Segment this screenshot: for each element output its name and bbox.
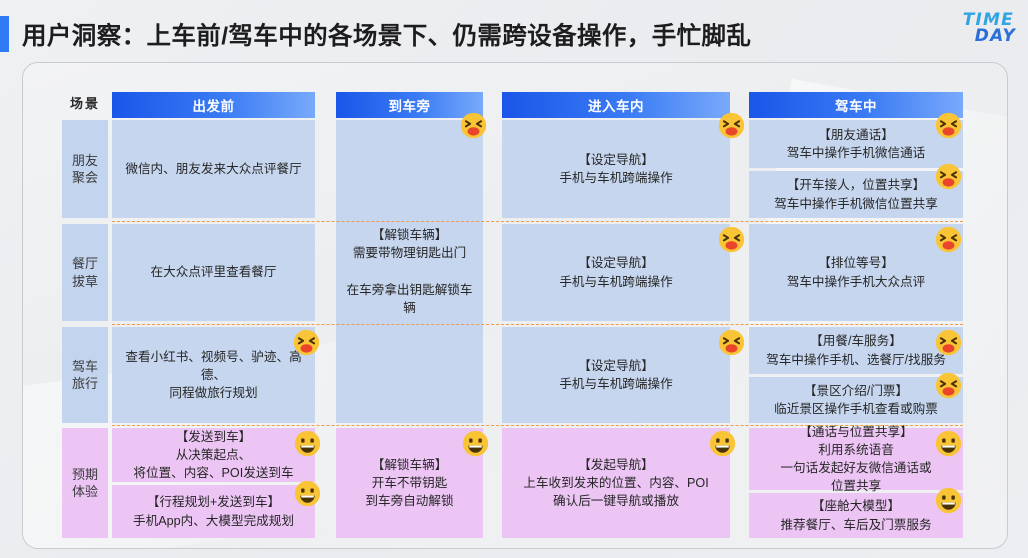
cell-r0-c2-text: 【设定导航】 手机与车机跨端操作	[559, 151, 672, 188]
cell-r0-c3-b-text: 【开车接人，位置共享】 驾车中操作手机微信位置共享	[774, 176, 938, 213]
cell-r3-c1-text: 【解锁车辆】 开车不带钥匙 到车旁自动解锁	[365, 456, 453, 511]
cell-r0-c3-a[interactable]: 【朋友通话】 驾车中操作手机微信通话	[749, 120, 963, 168]
grinning-face-icon	[709, 430, 736, 457]
confounded-face-icon	[718, 329, 745, 356]
row-label-2: 驾车 旅行	[62, 327, 108, 423]
grinning-face-icon	[294, 480, 321, 507]
insight-matrix: 场景 出发前 到车旁 进入车内 驾车中 朋友 聚会 餐厅 拔草 驾车 旅行 预期…	[0, 0, 1028, 558]
cell-r1-c3-text: 【排位等号】 驾车中操作手机大众点评	[787, 254, 926, 291]
column-header-3[interactable]: 驾车中	[749, 92, 963, 118]
cell-r3-c0-a[interactable]: 【发送到车】 从决策起点、 将位置、内容、POI发送到车	[112, 428, 315, 482]
cell-r2-c3-b[interactable]: 【景区介绍/门票】 临近景区操作手机查看或购票	[749, 377, 963, 423]
confounded-face-icon	[935, 372, 962, 399]
cell-r0-c2[interactable]: 【设定导航】 手机与车机跨端操作	[502, 120, 730, 218]
column-header-0[interactable]: 出发前	[112, 92, 315, 118]
row-divider-1	[112, 324, 963, 325]
confounded-face-icon	[460, 112, 487, 139]
confounded-face-icon	[935, 112, 962, 139]
cell-r2-c0[interactable]: 查看小红书、视频号、驴迹、高德、 同程做旅行规划	[112, 327, 315, 423]
column-header-2[interactable]: 进入车内	[502, 92, 730, 118]
cell-r1-c3[interactable]: 【排位等号】 驾车中操作手机大众点评	[749, 224, 963, 321]
cell-r1-c2-text: 【设定导航】 手机与车机跨端操作	[559, 254, 672, 291]
slide-root: 用户洞察：上车前/驾车中的各场景下、仍需跨设备操作，手忙脚乱 TIME DAY …	[0, 0, 1028, 558]
cell-r2-c0-text: 查看小红书、视频号、驴迹、高德、 同程做旅行规划	[121, 348, 306, 403]
cell-unlock-vehicle-merged[interactable]: 【解锁车辆】 需要带物理钥匙出门 在车旁拿出钥匙解锁车辆	[336, 120, 483, 423]
row-label-3-text: 预期 体验	[72, 466, 98, 500]
confounded-face-icon	[718, 112, 745, 139]
cell-r1-c0-text: 在大众点评里查看餐厅	[151, 263, 277, 281]
cell-r1-c2[interactable]: 【设定导航】 手机与车机跨端操作	[502, 224, 730, 321]
cell-r3-c3-a-text: 【通话与位置共享】 利用系统语音 一句话发起好友微信通话或 位置共享	[780, 423, 931, 496]
grinning-face-icon	[294, 430, 321, 457]
confounded-face-icon	[718, 226, 745, 253]
cell-r0-c3-b[interactable]: 【开车接人，位置共享】 驾车中操作手机微信位置共享	[749, 171, 963, 218]
row-label-1: 餐厅 拔草	[62, 224, 108, 321]
grinning-face-icon	[935, 487, 962, 514]
grinning-face-icon	[462, 430, 489, 457]
cell-unlock-vehicle-merged-text: 【解锁车辆】 需要带物理钥匙出门 在车旁拿出钥匙解锁车辆	[345, 226, 474, 317]
confounded-face-icon	[293, 329, 320, 356]
cell-r3-c2[interactable]: 【发起导航】 上车收到发来的位置、内容、POI 确认后一键导航或播放	[502, 428, 730, 538]
cell-r3-c3-b-text: 【座舱大模型】 推荐餐厅、车后及门票服务	[780, 497, 931, 534]
confounded-face-icon	[935, 329, 962, 356]
row-label-0-text: 朋友 聚会	[72, 152, 98, 186]
row-label-0: 朋友 聚会	[62, 120, 108, 218]
row-label-2-text: 驾车 旅行	[72, 358, 98, 392]
row-label-3: 预期 体验	[62, 428, 108, 538]
cell-r3-c0-b-text: 【行程规划+发送到车】 手机App内、大模型完成规划	[133, 493, 294, 530]
grinning-face-icon	[935, 430, 962, 457]
cell-r1-c0[interactable]: 在大众点评里查看餐厅	[112, 224, 315, 321]
cell-r2-c3-a-text: 【用餐/车服务】 驾车中操作手机、选餐厅/找服务	[766, 332, 946, 369]
cell-r2-c2-text: 【设定导航】 手机与车机跨端操作	[559, 357, 672, 394]
confounded-face-icon	[935, 163, 962, 190]
cell-r3-c0-a-text: 【发送到车】 从决策起点、 将位置、内容、POI发送到车	[133, 428, 293, 483]
confounded-face-icon	[935, 226, 962, 253]
cell-r3-c0-b[interactable]: 【行程规划+发送到车】 手机App内、大模型完成规划	[112, 485, 315, 538]
cell-r0-c0-text: 微信内、朋友发来大众点评餐厅	[125, 160, 301, 178]
cell-r0-c0[interactable]: 微信内、朋友发来大众点评餐厅	[112, 120, 315, 218]
cell-r2-c3-a[interactable]: 【用餐/车服务】 驾车中操作手机、选餐厅/找服务	[749, 327, 963, 374]
cell-r3-c3-b[interactable]: 【座舱大模型】 推荐餐厅、车后及门票服务	[749, 493, 963, 538]
cell-r2-c3-b-text: 【景区介绍/门票】 临近景区操作手机查看或购票	[774, 382, 938, 419]
row-divider-2	[112, 425, 963, 426]
matrix-corner-label: 场景	[62, 90, 108, 114]
cell-r3-c3-a[interactable]: 【通话与位置共享】 利用系统语音 一句话发起好友微信通话或 位置共享	[749, 428, 963, 490]
cell-r3-c2-text: 【发起导航】 上车收到发来的位置、内容、POI 确认后一键导航或播放	[523, 456, 708, 511]
cell-r0-c3-a-text: 【朋友通话】 驾车中操作手机微信通话	[787, 126, 926, 163]
row-divider-0	[112, 221, 963, 222]
row-label-1-text: 餐厅 拔草	[72, 255, 98, 289]
cell-r3-c1[interactable]: 【解锁车辆】 开车不带钥匙 到车旁自动解锁	[336, 428, 483, 538]
cell-r2-c2[interactable]: 【设定导航】 手机与车机跨端操作	[502, 327, 730, 423]
